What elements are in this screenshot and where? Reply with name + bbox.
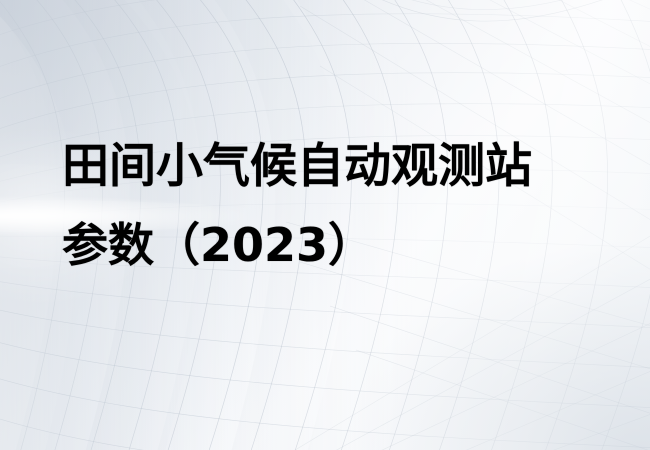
title-line-1: 田间小气候自动观测站 bbox=[62, 128, 602, 206]
title-line-2: 参数（2023） bbox=[62, 206, 602, 284]
poster-canvas: 田间小气候自动观测站 参数（2023） bbox=[0, 0, 650, 450]
page-title: 田间小气候自动观测站 参数（2023） bbox=[62, 128, 602, 284]
